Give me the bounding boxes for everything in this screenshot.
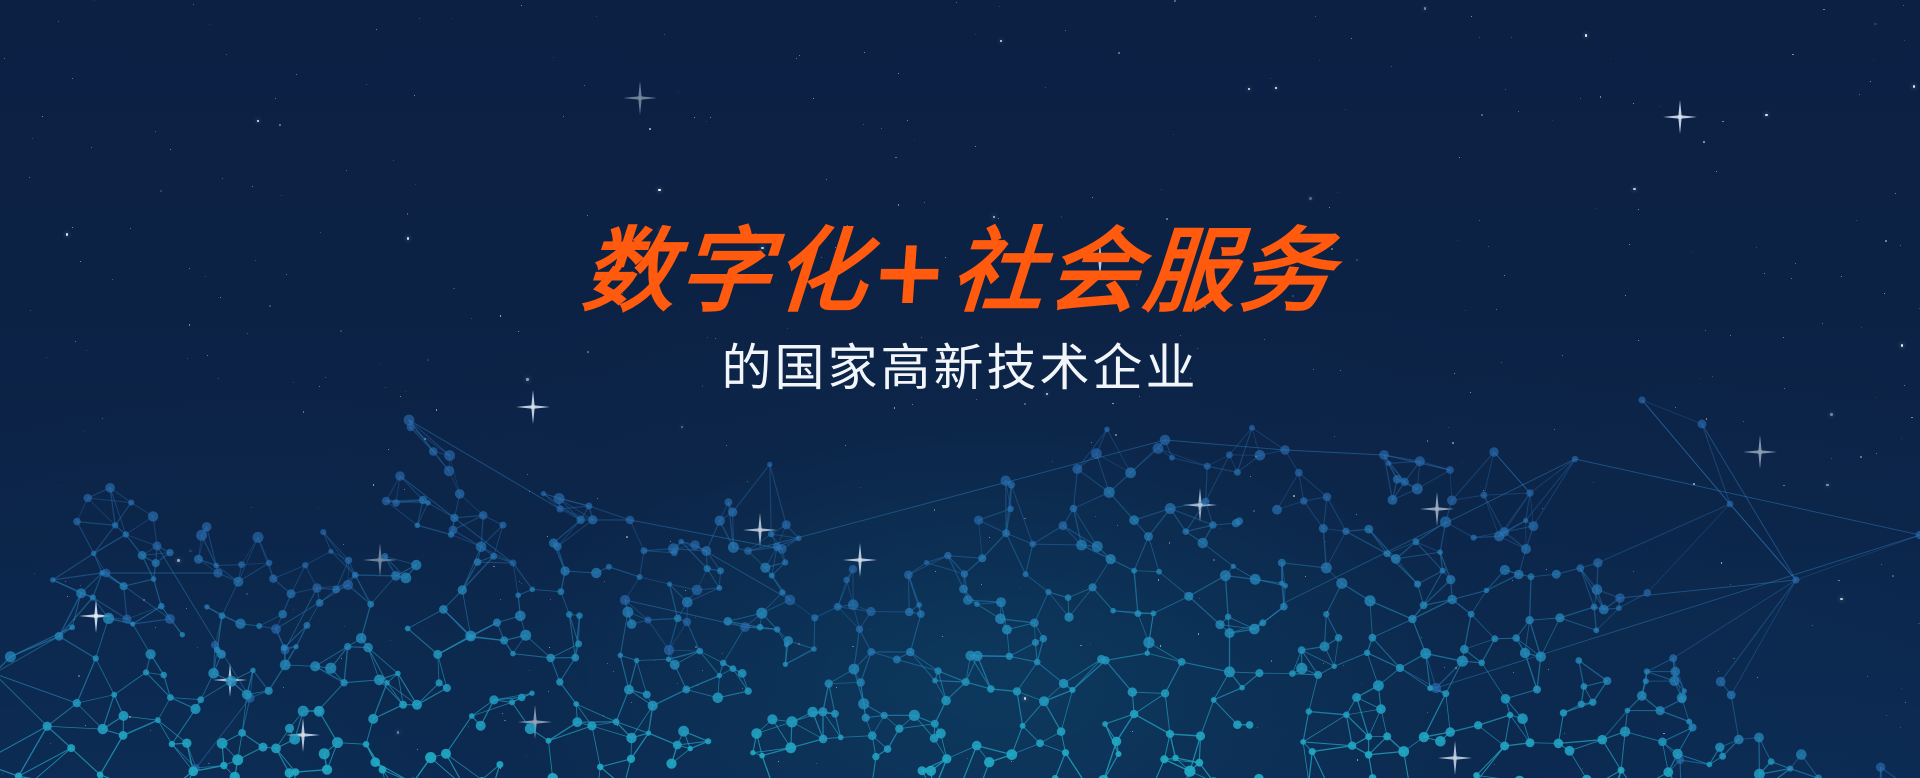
network-constellation-mesh xyxy=(0,0,1920,778)
banner-hero: 数字化+社会服务 的国家高新技术企业 xyxy=(0,0,1920,778)
